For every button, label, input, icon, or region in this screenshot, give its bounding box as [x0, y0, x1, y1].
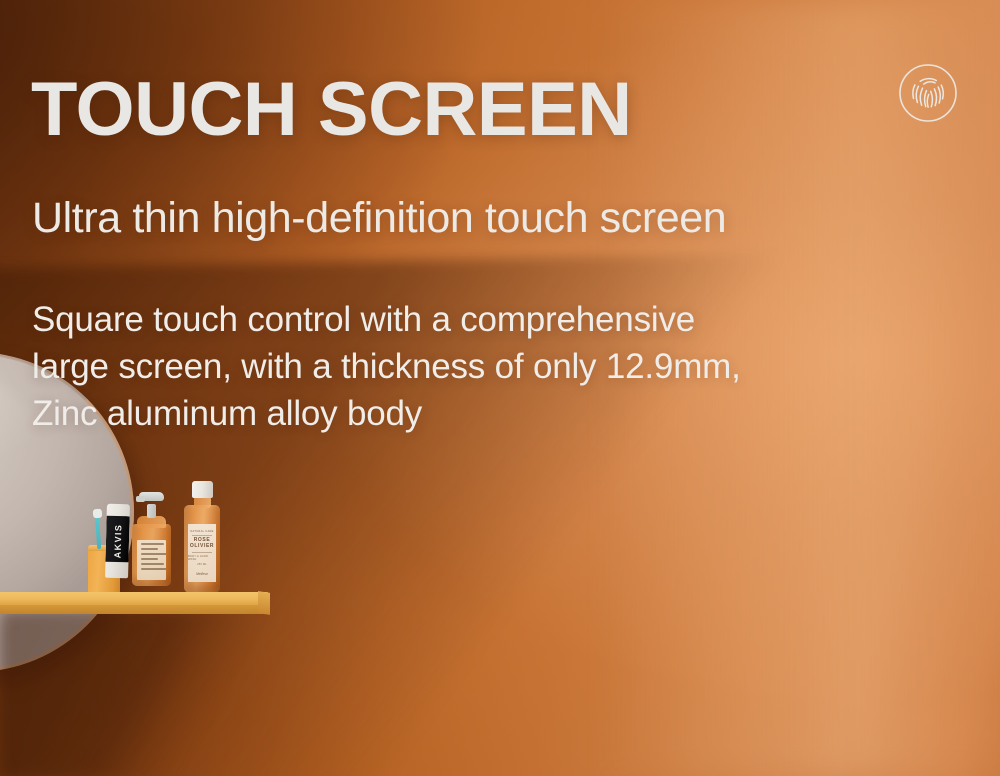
- page-subtitle: Ultra thin high-definition touch screen: [32, 197, 726, 240]
- toothpaste-brand-label: AKVIS: [112, 524, 123, 559]
- page-description: Square touch control with a comprehensiv…: [32, 296, 932, 437]
- pump-bottle-neck: [147, 504, 156, 518]
- tall-label-top: NATURAL CARE: [190, 530, 213, 533]
- tall-bottle-cap: [192, 481, 213, 498]
- fingerprint-badge: [897, 62, 959, 124]
- description-line-3: Zinc aluminum alloy body: [32, 390, 932, 437]
- description-line-1: Square touch control with a comprehensiv…: [32, 296, 932, 343]
- label-line: [141, 543, 164, 545]
- label-line: [141, 553, 166, 555]
- wall-shelf-front: [0, 605, 268, 614]
- tall-label-signature: Meilleur: [196, 572, 208, 576]
- pump-bottle-label: [137, 540, 166, 580]
- toothpaste-tube: AKVIS: [105, 504, 130, 579]
- tall-label-rule: [192, 552, 212, 553]
- label-line: [141, 548, 158, 550]
- tall-label-rule: [192, 535, 212, 536]
- pump-bottle-spout: [136, 496, 145, 502]
- tall-bottle-label: NATURAL CARE ROSE OLIVIER BODY & HAND WA…: [188, 524, 216, 582]
- label-line: [141, 568, 166, 570]
- promo-banner: AKVIS NATURAL CARE ROSE OLIVIER BODY & H…: [0, 0, 1000, 776]
- tall-label-name: ROSE OLIVIER: [188, 538, 216, 550]
- tall-label-volume: 250 ML: [197, 563, 207, 566]
- tall-label-sub: BODY & HAND WASH: [188, 555, 216, 561]
- label-line: [141, 563, 164, 565]
- description-line-2: large screen, with a thickness of only 1…: [32, 343, 932, 390]
- shelf-cast-shadow: [0, 610, 300, 776]
- page-title: TOUCH SCREEN: [31, 72, 632, 148]
- label-line: [141, 558, 158, 560]
- wall-shelf-end-cap: [258, 591, 270, 615]
- toothbrush-head: [93, 509, 103, 519]
- fingerprint-icon: [897, 62, 959, 124]
